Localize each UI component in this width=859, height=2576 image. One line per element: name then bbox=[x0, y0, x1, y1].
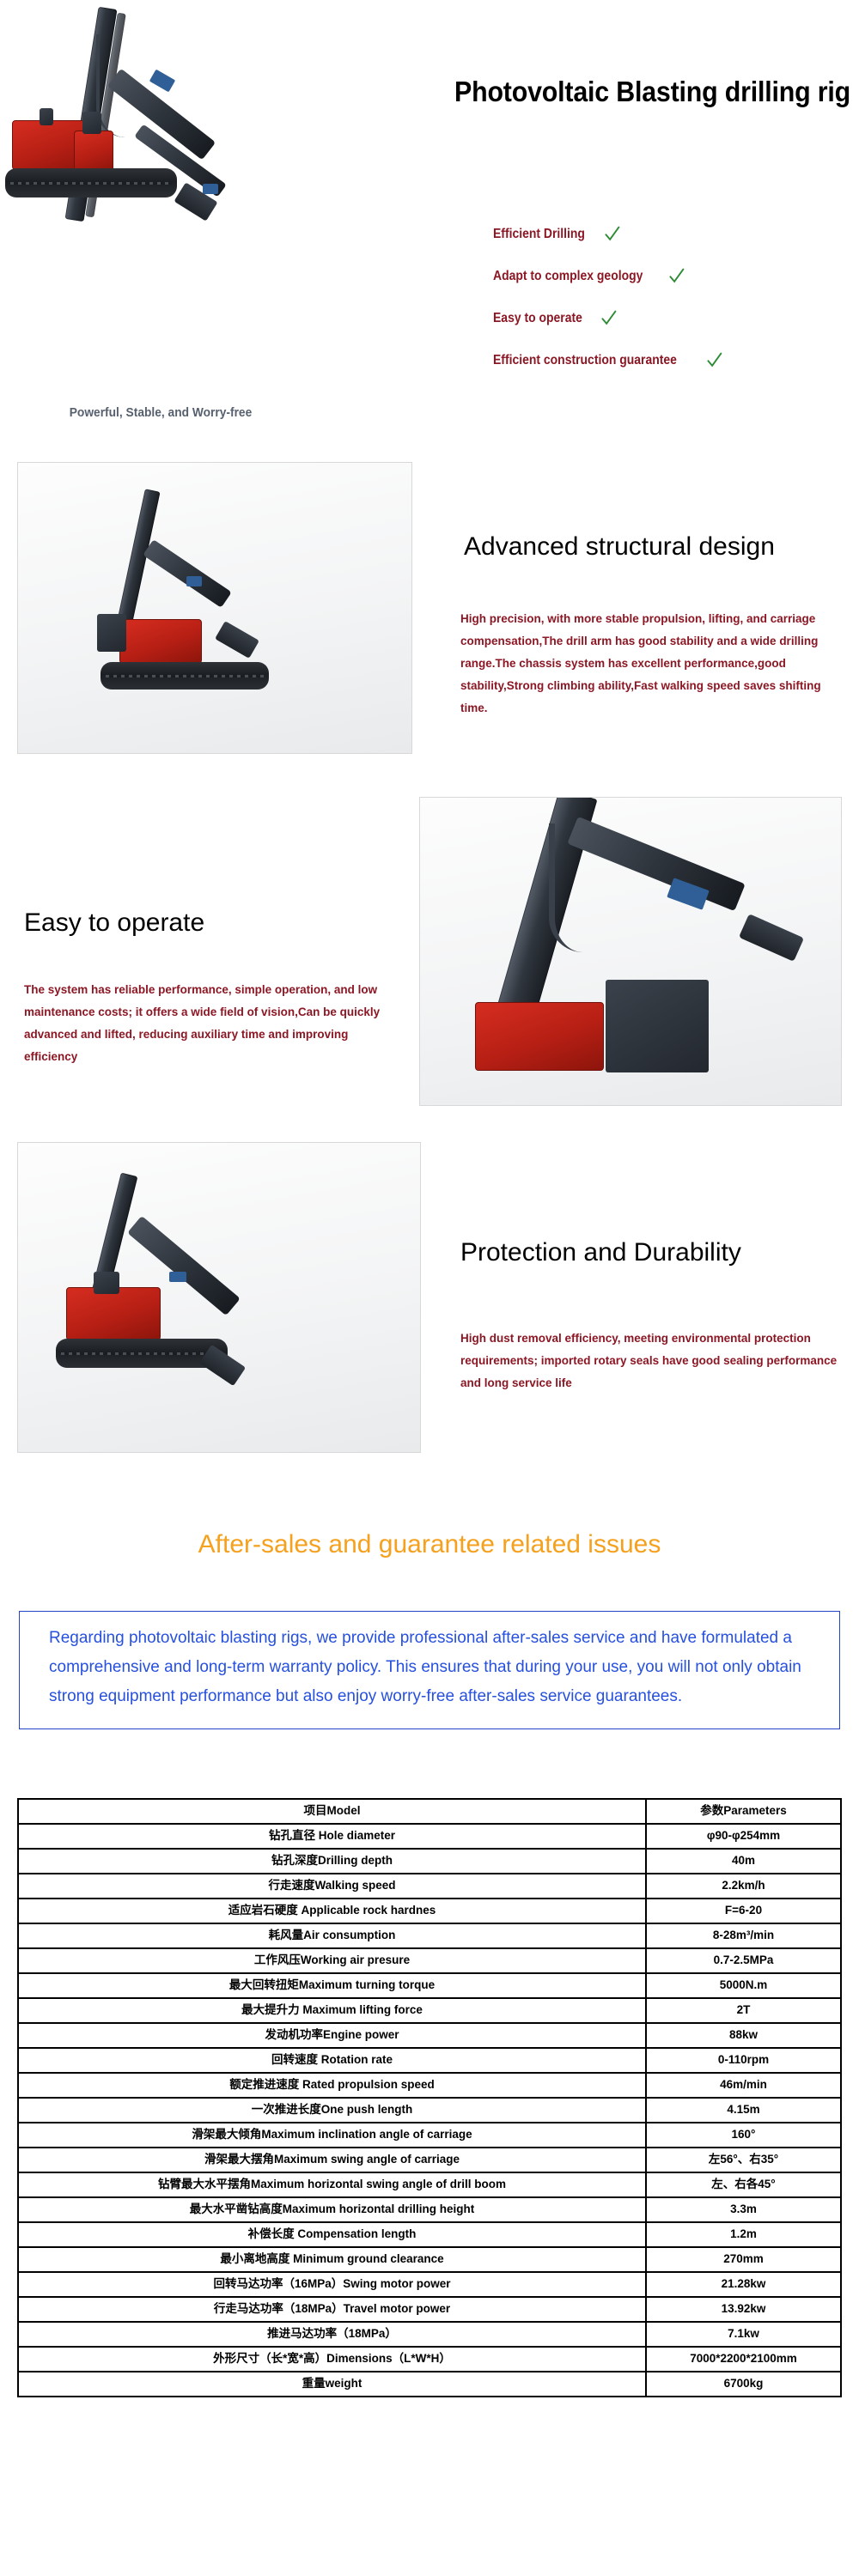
page-title: Photovoltaic Blasting drilling rig bbox=[344, 76, 850, 108]
table-row: 钻孔直径 Hole diameterφ90-φ254mm bbox=[18, 1824, 841, 1849]
check-icon bbox=[668, 268, 685, 284]
spec-value: 2.2km/h bbox=[646, 1874, 841, 1899]
section-2-photo bbox=[419, 797, 842, 1106]
photo-background bbox=[18, 463, 411, 753]
warranty-box: Regarding photovoltaic blasting rigs, we… bbox=[19, 1611, 840, 1729]
feature-label: Efficient Drilling bbox=[493, 227, 585, 242]
table-row: 最小离地高度 Minimum ground clearance270mm bbox=[18, 2247, 841, 2272]
feature-item: Efficient construction guarantee bbox=[493, 339, 854, 381]
spec-item: 耗风量Air consumption bbox=[18, 1923, 646, 1948]
spec-value: 0.7-2.5MPa bbox=[646, 1948, 841, 1973]
spec-item: 补偿长度 Compensation length bbox=[18, 2222, 646, 2247]
check-icon bbox=[600, 310, 617, 326]
feature-label: Adapt to complex geology bbox=[493, 269, 643, 284]
warranty-text: Regarding photovoltaic blasting rigs, we… bbox=[49, 1624, 813, 1711]
spec-value: 0-110rpm bbox=[646, 2048, 841, 2073]
table-row: 一次推进长度One push length4.15m bbox=[18, 2098, 841, 2123]
spec-item: 最大水平凿钻高度Maximum horizontal drilling heig… bbox=[18, 2197, 646, 2222]
section-3-photo bbox=[17, 1142, 421, 1453]
spec-value: 46m/min bbox=[646, 2073, 841, 2098]
table-row: 行走速度Walking speed2.2km/h bbox=[18, 1874, 841, 1899]
spec-item: 钻孔深度Drilling depth bbox=[18, 1849, 646, 1874]
section-2-heading: Easy to operate bbox=[24, 908, 204, 938]
feature-item: Efficient Drilling bbox=[493, 213, 854, 255]
rig-crawler-track bbox=[101, 662, 269, 690]
spec-item: 行走马达功率（18MPa）Travel motor power bbox=[18, 2297, 646, 2322]
spec-item: 回转马达功率（16MPa）Swing motor power bbox=[18, 2272, 646, 2297]
spec-item: 最大回转扭矩Maximum turning torque bbox=[18, 1973, 646, 1998]
spec-value: 40m bbox=[646, 1849, 841, 1874]
rig-hydraulic-block bbox=[169, 1272, 186, 1282]
table-row: 补偿长度 Compensation length1.2m bbox=[18, 2222, 841, 2247]
check-icon bbox=[604, 226, 620, 242]
aftersales-title: After-sales and guarantee related issues bbox=[0, 1530, 859, 1559]
spec-value: 左56°、右35° bbox=[646, 2148, 841, 2172]
spec-item: 外形尺寸（长*宽*高）Dimensions（L*W*H） bbox=[18, 2347, 646, 2372]
spec-value: 3.3m bbox=[646, 2197, 841, 2222]
spec-value: 160° bbox=[646, 2123, 841, 2148]
feature-label: Efficient construction guarantee bbox=[493, 353, 677, 368]
rig-engine-housing bbox=[119, 619, 202, 664]
feature-label: Easy to operate bbox=[493, 311, 582, 326]
spec-item: 最大提升力 Maximum lifting force bbox=[18, 1998, 646, 2023]
feature-item: Easy to operate bbox=[493, 297, 854, 339]
spec-value: 13.92kw bbox=[646, 2297, 841, 2322]
spec-item: 滑架最大倾角Maximum inclination angle of carri… bbox=[18, 2123, 646, 2148]
spec-item: 回转速度 Rotation rate bbox=[18, 2048, 646, 2073]
spec-value: 左、右各45° bbox=[646, 2172, 841, 2197]
spec-item: 一次推进长度One push length bbox=[18, 2098, 646, 2123]
spec-item: 滑架最大摆角Maximum swing angle of carriage bbox=[18, 2148, 646, 2172]
spec-item: 钻臂最大水平摆角Maximum horizontal swing angle o… bbox=[18, 2172, 646, 2197]
table-row: 发动机功率Engine power88kw bbox=[18, 2023, 841, 2048]
spec-value: 88kw bbox=[646, 2023, 841, 2048]
table-row: 滑架最大摆角Maximum swing angle of carriage左56… bbox=[18, 2148, 841, 2172]
section-3-heading: Protection and Durability bbox=[460, 1238, 741, 1267]
rig-exhaust bbox=[40, 108, 53, 125]
rig-cab bbox=[97, 614, 126, 652]
spec-item: 发动机功率Engine power bbox=[18, 2023, 646, 2048]
check-icon bbox=[706, 352, 722, 368]
table-row: 钻孔深度Drilling depth40m bbox=[18, 1849, 841, 1874]
spec-value: 5000N.m bbox=[646, 1973, 841, 1998]
table-row: 外形尺寸（长*宽*高）Dimensions（L*W*H）7000*2200*21… bbox=[18, 2347, 841, 2372]
rig-hose bbox=[549, 823, 600, 952]
table-row: 最大回转扭矩Maximum turning torque5000N.m bbox=[18, 1973, 841, 1998]
spec-value: F=6-20 bbox=[646, 1899, 841, 1923]
spec-item: 最小离地高度 Minimum ground clearance bbox=[18, 2247, 646, 2272]
table-row: 行走马达功率（18MPa）Travel motor power13.92kw bbox=[18, 2297, 841, 2322]
rig-engine-housing bbox=[475, 1002, 604, 1071]
table-row: 滑架最大倾角Maximum inclination angle of carri… bbox=[18, 2123, 841, 2148]
spec-value: 7000*2200*2100mm bbox=[646, 2347, 841, 2372]
spec-value: 270mm bbox=[646, 2247, 841, 2272]
hero-section: Photovoltaic Blasting drilling rig Effic… bbox=[0, 0, 859, 429]
spec-value: 7.1kw bbox=[646, 2322, 841, 2347]
section-1-body: High precision, with more stable propuls… bbox=[460, 608, 847, 720]
section-2-body: The system has reliable performance, sim… bbox=[24, 979, 393, 1068]
table-row: 额定推进速度 Rated propulsion speed46m/min bbox=[18, 2073, 841, 2098]
spec-value: 6700kg bbox=[646, 2372, 841, 2397]
spec-item: 重量weight bbox=[18, 2372, 646, 2397]
spec-value: 8-28m³/min bbox=[646, 1923, 841, 1948]
rig-hydraulic-block bbox=[149, 70, 176, 93]
spec-item: 额定推进速度 Rated propulsion speed bbox=[18, 2073, 646, 2098]
table-row: 适应岩石硬度 Applicable rock hardnesF=6-20 bbox=[18, 1899, 841, 1923]
spec-value: 2T bbox=[646, 1998, 841, 2023]
section-3-body: High dust removal efficiency, meeting en… bbox=[460, 1327, 856, 1394]
spec-item: 行走速度Walking speed bbox=[18, 1874, 646, 1899]
table-row: 回转速度 Rotation rate0-110rpm bbox=[18, 2048, 841, 2073]
rig-control-panel bbox=[94, 1272, 119, 1294]
rig-hydraulic-block-2 bbox=[203, 184, 218, 194]
feature-list: Efficient Drilling Adapt to complex geol… bbox=[493, 213, 854, 381]
feature-item: Adapt to complex geology bbox=[493, 255, 854, 297]
table-row: 耗风量Air consumption8-28m³/min bbox=[18, 1923, 841, 1948]
rig-cab bbox=[606, 980, 709, 1072]
spec-item: 工作风压Working air presure bbox=[18, 1948, 646, 1973]
header-item: 项目Model bbox=[18, 1799, 646, 1824]
table-row: 回转马达功率（16MPa）Swing motor power21.28kw bbox=[18, 2272, 841, 2297]
rig-cabin-body bbox=[74, 131, 113, 172]
spec-value: 4.15m bbox=[646, 2098, 841, 2123]
spec-value: 21.28kw bbox=[646, 2272, 841, 2297]
rig-control-panel bbox=[82, 112, 101, 134]
spec-value: φ90-φ254mm bbox=[646, 1824, 841, 1849]
specification-table: 项目Model 参数Parameters 钻孔直径 Hole diameterφ… bbox=[17, 1798, 842, 2397]
table-row: 钻臂最大水平摆角Maximum horizontal swing angle o… bbox=[18, 2172, 841, 2197]
table-row: 工作风压Working air presure0.7-2.5MPa bbox=[18, 1948, 841, 1973]
table-row: 推进马达功率（18MPa）7.1kw bbox=[18, 2322, 841, 2347]
table-row: 最大水平凿钻高度Maximum horizontal drilling heig… bbox=[18, 2197, 841, 2222]
spec-item: 推进马达功率（18MPa） bbox=[18, 2322, 646, 2347]
spec-value: 1.2m bbox=[646, 2222, 841, 2247]
header-value: 参数Parameters bbox=[646, 1799, 841, 1824]
rig-crawler-track bbox=[5, 168, 177, 197]
section-1-heading: Advanced structural design bbox=[464, 532, 775, 562]
table-row: 重量weight6700kg bbox=[18, 2372, 841, 2397]
section-1-photo bbox=[17, 462, 412, 754]
rig-hydraulic-block bbox=[186, 576, 202, 586]
hero-caption: Powerful, Stable, and Worry-free bbox=[42, 406, 279, 420]
spec-item: 钻孔直径 Hole diameter bbox=[18, 1824, 646, 1849]
spec-table-body: 项目Model 参数Parameters 钻孔直径 Hole diameterφ… bbox=[18, 1799, 841, 2397]
table-header-row: 项目Model 参数Parameters bbox=[18, 1799, 841, 1824]
spec-item: 适应岩石硬度 Applicable rock hardnes bbox=[18, 1899, 646, 1923]
rig-engine-housing bbox=[66, 1287, 161, 1340]
table-row: 最大提升力 Maximum lifting force2T bbox=[18, 1998, 841, 2023]
